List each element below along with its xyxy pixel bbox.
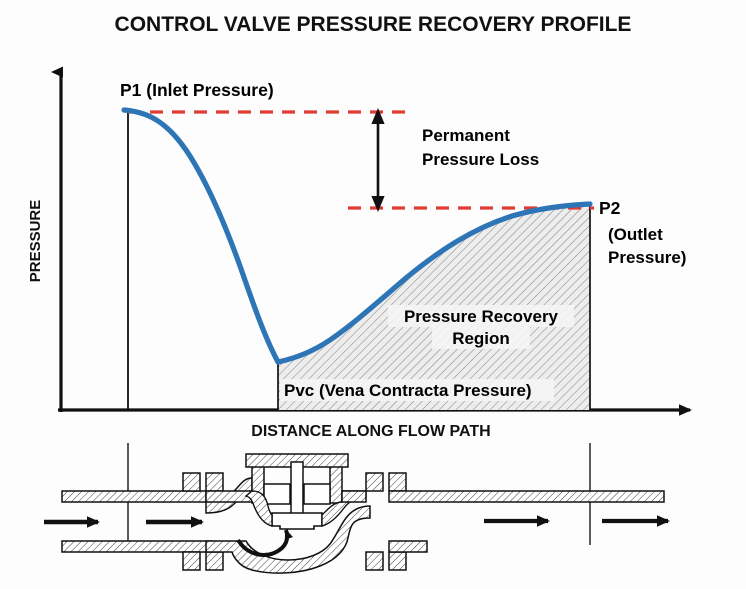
inlet-pipe-upper-wall	[62, 491, 212, 502]
outlet-flange-lower-left	[366, 552, 383, 570]
bonnet-neck-right-wall	[330, 466, 342, 503]
y-axis-label: PRESSURE	[27, 200, 44, 283]
p2-label-line2: (Outlet	[608, 225, 663, 244]
pvc-label: Pvc (Vena Contracta Pressure)	[284, 381, 532, 400]
permanent-pressure-loss-arrow	[371, 108, 384, 212]
valve-body-upper-left	[206, 491, 252, 502]
p2-label: P2	[599, 198, 621, 218]
outlet-flange-lower-right	[389, 552, 406, 570]
packing-gland-left	[264, 484, 290, 504]
packing-gland-right	[304, 484, 330, 504]
permanent-loss-label-line1: Permanent	[422, 126, 510, 145]
outlet-flange-upper-right	[389, 473, 406, 491]
arrow-head-down-icon	[371, 196, 384, 212]
inlet-flange-upper-right	[206, 473, 223, 491]
valve-body-outlet-neck-upper	[342, 491, 366, 502]
valve-plug-disc	[272, 513, 322, 529]
outlet-pipe-lower-wall	[389, 541, 427, 552]
inlet-flange-lower-right	[206, 552, 223, 570]
permanent-loss-label-line2: Pressure Loss	[422, 150, 539, 169]
p2-label-line3: Pressure)	[608, 248, 686, 267]
recovery-region-label-line1: Pressure Recovery	[404, 307, 559, 326]
inlet-flange-upper-left	[183, 473, 200, 491]
outlet-pipe-upper-wall	[389, 491, 664, 502]
x-axis-label: DISTANCE ALONG FLOW PATH	[251, 423, 490, 440]
diagram-canvas: CONTROL VALVE PRESSURE RECOVERY PROFILE …	[0, 0, 746, 589]
pressure-recovery-figure: CONTROL VALVE PRESSURE RECOVERY PROFILE …	[0, 0, 746, 589]
inlet-pipe-lower-wall	[62, 541, 212, 552]
page-title: CONTROL VALVE PRESSURE RECOVERY PROFILE	[115, 13, 632, 36]
pvc-label-group: Pvc (Vena Contracta Pressure)	[280, 379, 554, 401]
inlet-flange-lower-left	[183, 552, 200, 570]
recovery-region-label-line2: Region	[452, 329, 510, 348]
outlet-flange-upper-left	[366, 473, 383, 491]
p1-label: P1 (Inlet Pressure)	[120, 80, 274, 100]
globe-valve-cross-section	[44, 443, 668, 573]
valve-stem	[291, 462, 303, 516]
